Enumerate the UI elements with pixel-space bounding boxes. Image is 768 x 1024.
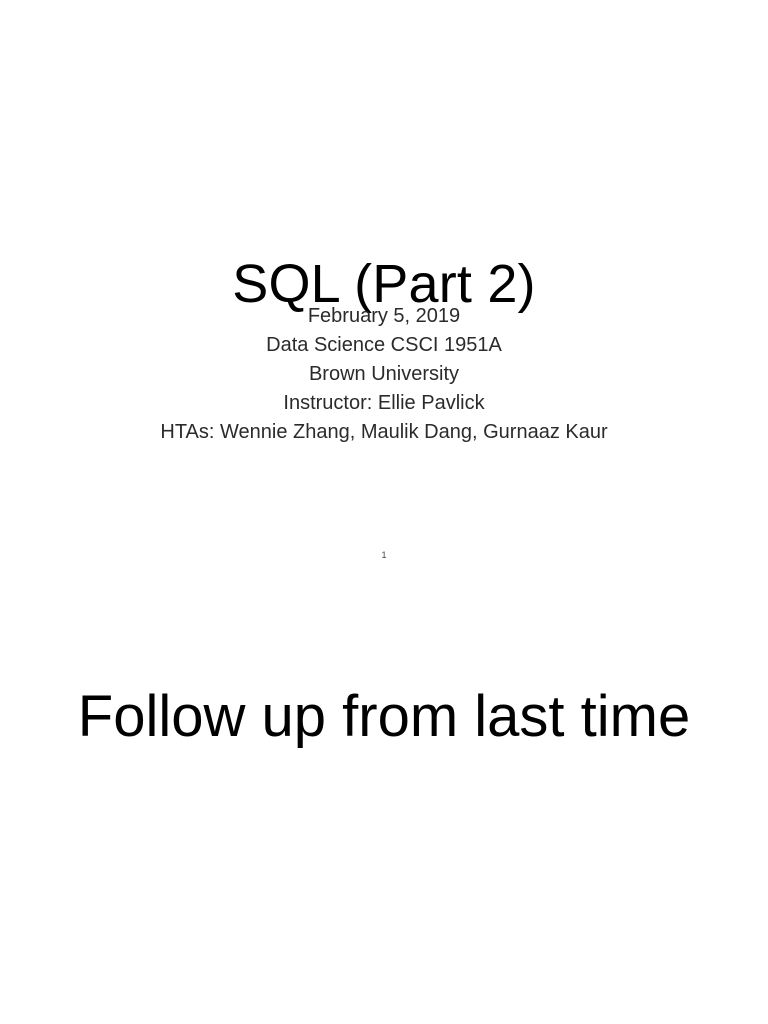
subtitle-line-course: Data Science CSCI 1951A [0,331,768,360]
page-number: 1 [0,549,768,561]
subtitle-line-university: Brown University [0,360,768,389]
slide-subtitle-block: February 5, 2019 Data Science CSCI 1951A… [0,302,768,447]
slide-deck-page: SQL (Part 2) February 5, 2019 Data Scien… [0,0,768,1024]
subtitle-line-instructor: Instructor: Ellie Pavlick [0,389,768,418]
subtitle-line-htas: HTAs: Wennie Zhang, Maulik Dang, Gurnaaz… [0,418,768,447]
slide-section-header: Follow up from last time [0,600,768,1024]
subtitle-line-date: February 5, 2019 [0,302,768,331]
slide-title-page: SQL (Part 2) February 5, 2019 Data Scien… [0,0,768,600]
section-heading: Follow up from last time [0,682,768,752]
